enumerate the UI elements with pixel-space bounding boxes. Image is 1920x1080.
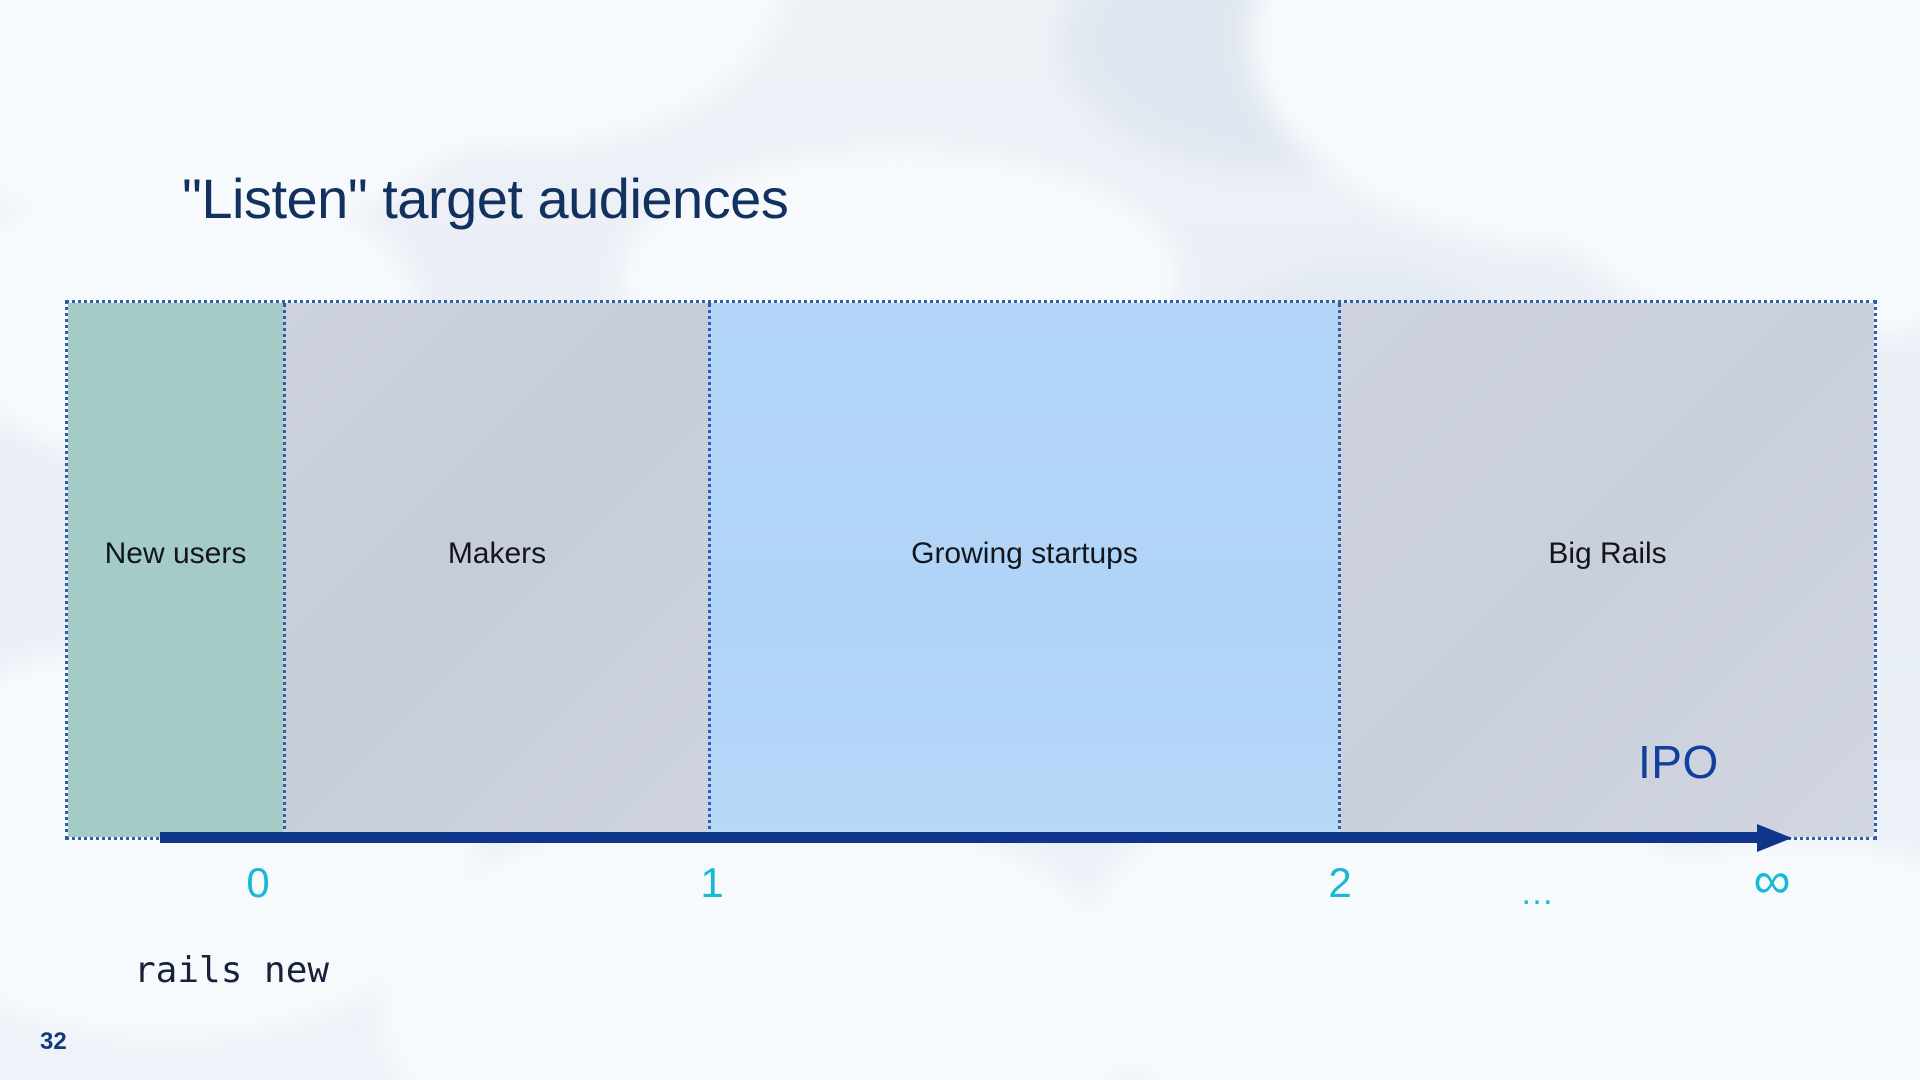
axis-tick-1: 1	[700, 862, 723, 904]
band-growing-startups: Growing startups	[708, 303, 1338, 837]
band-label: Big Rails	[1548, 537, 1666, 571]
band-new-users: New users	[68, 303, 283, 837]
timeline-axis	[160, 824, 1792, 850]
band-label: New users	[105, 537, 247, 571]
band-label: Makers	[448, 537, 546, 571]
band-label: Growing startups	[911, 537, 1138, 571]
axis-tick-ellipsis: …	[1520, 876, 1556, 910]
axis-tick-2: 2	[1328, 862, 1351, 904]
ipo-annotation: IPO	[1638, 735, 1719, 789]
axis-line	[160, 832, 1760, 843]
command-caption: rails new	[134, 950, 329, 991]
band-big-rails: Big Rails	[1338, 303, 1874, 837]
slide-canvas: "Listen" target audiences New users Make…	[0, 0, 1920, 1080]
page-title: "Listen" target audiences	[182, 166, 788, 231]
arrow-head-icon	[1757, 824, 1792, 852]
axis-tick-infinity: ∞	[1753, 855, 1790, 907]
audience-band-chart: New users Makers Growing startups Big Ra…	[65, 300, 1877, 840]
page-number: 32	[40, 1028, 67, 1056]
band-makers: Makers	[283, 303, 708, 837]
axis-tick-0: 0	[246, 862, 269, 904]
